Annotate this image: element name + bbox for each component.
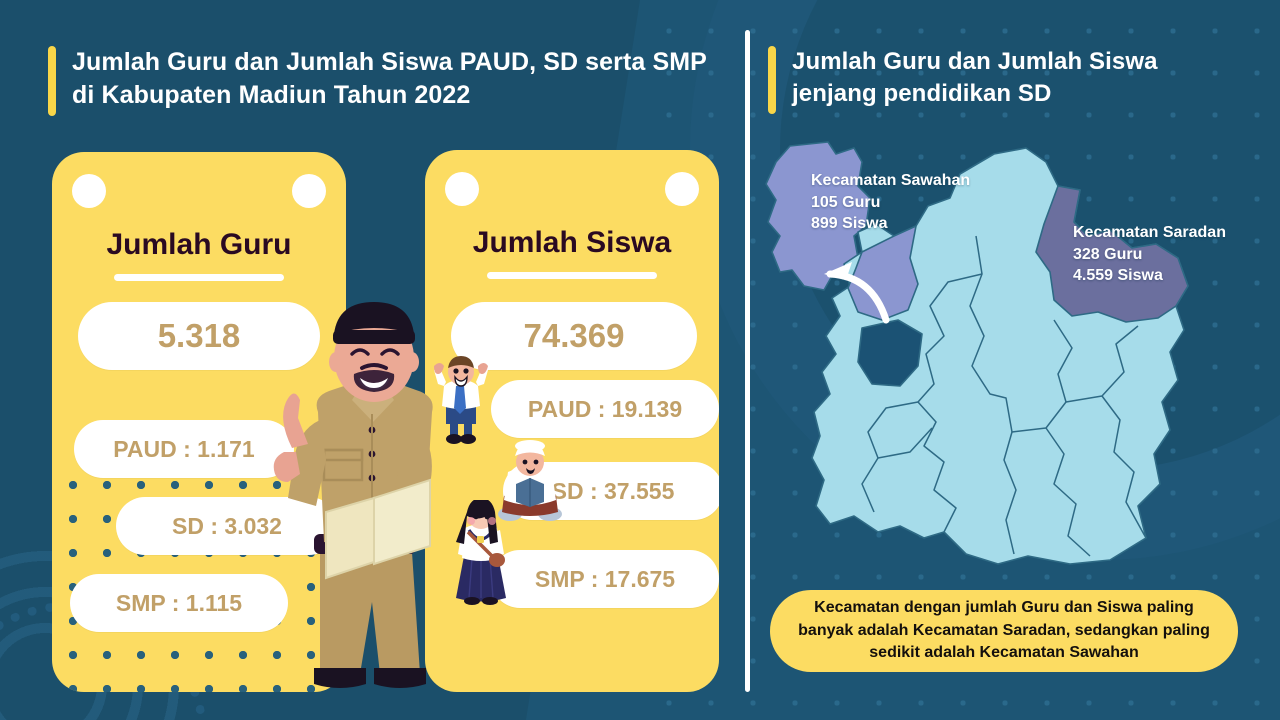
card-siswa-row-smp: SMP : 17.675 (491, 550, 719, 608)
map-label-sawahan-name: Kecamatan Sawahan (811, 170, 970, 192)
right-panel-heading: Jumlah Guru dan Jumlah Siswa jenjang pen… (768, 46, 1238, 114)
map-label-saradan-name: Kecamatan Saradan (1073, 222, 1226, 244)
student-girl-illustration (448, 500, 514, 608)
infographic-canvas: Jumlah Guru dan Jumlah Siswa PAUD, SD se… (0, 0, 1280, 720)
card-guru-row-paud: PAUD : 1.171 (74, 420, 294, 478)
map-label-saradan: Kecamatan Saradan 328 Guru 4.559 Siswa (1073, 222, 1226, 287)
card-siswa-underline (487, 272, 657, 279)
heading-accent-bar (768, 46, 776, 114)
punch-hole-right-icon (292, 174, 326, 208)
left-heading-text: Jumlah Guru dan Jumlah Siswa PAUD, SD se… (72, 46, 708, 112)
card-siswa-title: Jumlah Siswa (425, 226, 719, 260)
map-caption: Kecamatan dengan jumlah Guru dan Siswa p… (770, 590, 1238, 672)
heading-accent-bar (48, 46, 56, 116)
map-label-sawahan-teachers: 105 Guru (811, 192, 970, 214)
punch-hole-right-icon (665, 172, 699, 206)
map-label-sawahan-students: 899 Siswa (811, 213, 970, 235)
map-label-saradan-teachers: 328 Guru (1073, 244, 1226, 266)
punch-hole-left-icon (445, 172, 479, 206)
card-guru-row-smp: SMP : 1.115 (70, 574, 288, 632)
card-siswa-row-paud: PAUD : 19.139 (491, 380, 719, 438)
punch-hole-left-icon (72, 174, 106, 208)
map-label-saradan-students: 4.559 Siswa (1073, 265, 1226, 287)
card-guru-title: Jumlah Guru (52, 228, 346, 262)
right-heading-text: Jumlah Guru dan Jumlah Siswa jenjang pen… (792, 46, 1238, 110)
left-panel-heading: Jumlah Guru dan Jumlah Siswa PAUD, SD se… (48, 46, 708, 116)
map-label-sawahan: Kecamatan Sawahan 105 Guru 899 Siswa (811, 170, 970, 235)
student-cheering-illustration (424, 356, 498, 446)
panel-divider (745, 30, 750, 692)
card-guru-underline (114, 274, 284, 281)
